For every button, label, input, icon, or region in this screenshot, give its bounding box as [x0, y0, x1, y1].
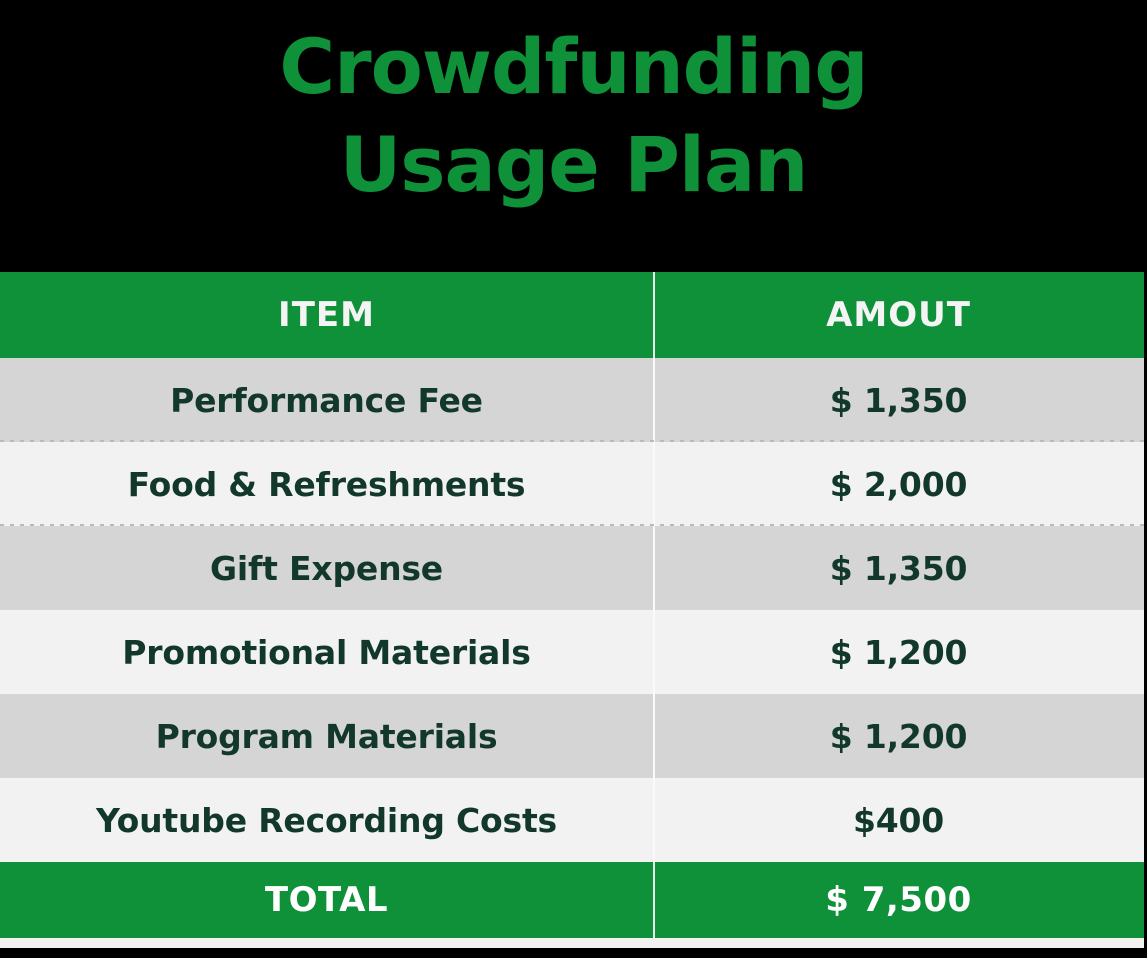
cell-amount: $ 1,350 [653, 358, 1144, 442]
usage-plan-table: ITEM AMOUT Performance Fee $ 1,350 Food … [0, 272, 1144, 948]
table-header-row: ITEM AMOUT [0, 272, 1144, 358]
table-row: Food & Refreshments $ 2,000 [0, 442, 1144, 526]
table-row: Performance Fee $ 1,350 [0, 358, 1144, 442]
table-row: Program Materials $ 1,200 [0, 694, 1144, 778]
table-row: Promotional Materials $ 1,200 [0, 610, 1144, 694]
cell-item: Gift Expense [0, 526, 653, 610]
total-label: TOTAL [0, 862, 653, 938]
table-total-row: TOTAL $ 7,500 [0, 862, 1144, 938]
cell-amount: $ 1,200 [653, 610, 1144, 694]
page-title-line-2: Usage Plan [340, 116, 808, 214]
cell-amount: $ 1,200 [653, 694, 1144, 778]
bottom-edge-strip [0, 948, 1147, 958]
cell-item: Promotional Materials [0, 610, 653, 694]
table-row: Youtube Recording Costs $400 [0, 778, 1144, 862]
cell-item: Food & Refreshments [0, 442, 653, 526]
cell-amount: $400 [653, 778, 1144, 862]
column-header-item: ITEM [0, 272, 653, 358]
column-header-amount: AMOUT [653, 272, 1144, 358]
crowdfunding-usage-plan-page: Crowdfunding Usage Plan ITEM AMOUT Perfo… [0, 0, 1147, 958]
cell-amount: $ 2,000 [653, 442, 1144, 526]
total-amount: $ 7,500 [653, 862, 1144, 938]
cell-item: Program Materials [0, 694, 653, 778]
cell-item: Performance Fee [0, 358, 653, 442]
title-block: Crowdfunding Usage Plan [0, 0, 1147, 272]
page-title-line-1: Crowdfunding [279, 18, 867, 116]
cell-item: Youtube Recording Costs [0, 778, 653, 862]
table-row: Gift Expense $ 1,350 [0, 526, 1144, 610]
cell-amount: $ 1,350 [653, 526, 1144, 610]
